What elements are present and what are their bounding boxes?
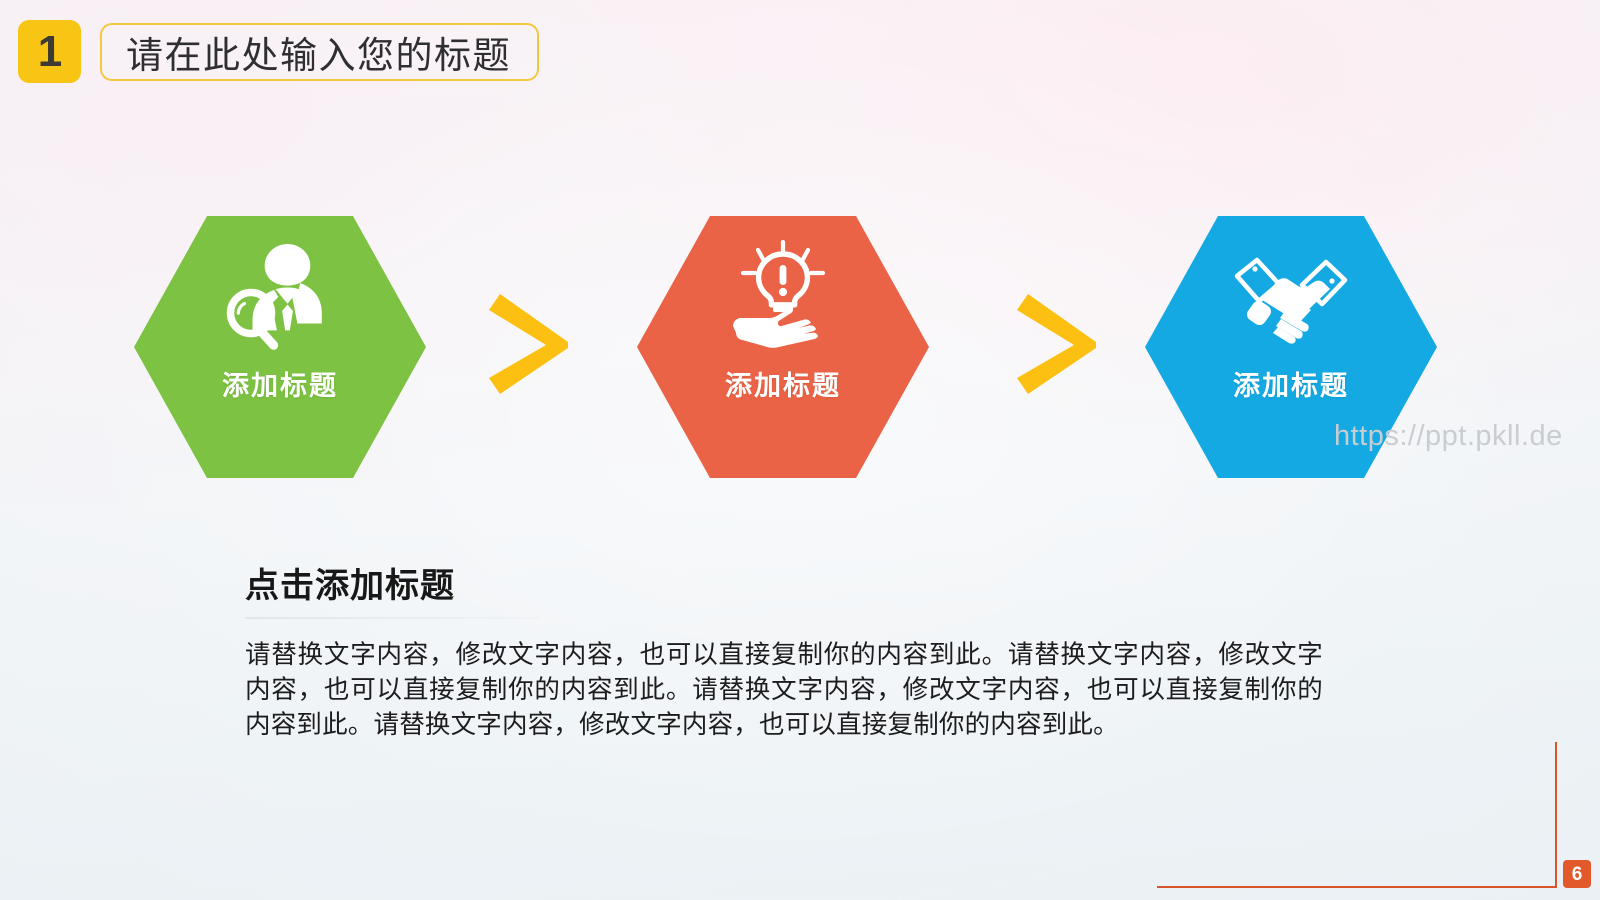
process-step-1[interactable]: 添加标题: [134, 216, 426, 478]
heading-divider: [245, 617, 540, 619]
footer-horizontal-rule: [1157, 886, 1557, 888]
chevron-right-icon-2: [1016, 290, 1102, 398]
process-step-3-label: 添加标题: [1233, 364, 1349, 403]
process-step-1-label: 添加标题: [222, 364, 338, 403]
page-title: 请在此处输入您的标题: [126, 25, 511, 79]
person-search-icon: [218, 240, 342, 358]
watermark-text: https://ppt.pkll.de: [1334, 420, 1563, 453]
handshake-icon: [1229, 240, 1353, 358]
slide-canvas: 1 请在此处输入您的标题: [0, 0, 1600, 900]
process-step-2[interactable]: 添加标题: [637, 216, 929, 478]
section-number-badge: 1: [18, 20, 81, 83]
page-number-badge: 6: [1563, 860, 1591, 888]
slide-header: 1 请在此处输入您的标题: [18, 20, 539, 83]
hand-lightbulb-icon: [721, 240, 845, 358]
process-step-2-label: 添加标题: [725, 364, 841, 403]
body-paragraph: 请替换文字内容，修改文字内容，也可以直接复制你的内容到此。请替换文字内容，修改文…: [245, 637, 1323, 743]
body-content: 点击添加标题 请替换文字内容，修改文字内容，也可以直接复制你的内容到此。请替换文…: [245, 565, 1335, 768]
footer-vertical-rule: [1555, 742, 1557, 888]
slide-title-box[interactable]: 请在此处输入您的标题: [100, 23, 539, 81]
body-heading: 点击添加标题: [245, 565, 1335, 608]
chevron-right-icon-1: [488, 290, 574, 398]
